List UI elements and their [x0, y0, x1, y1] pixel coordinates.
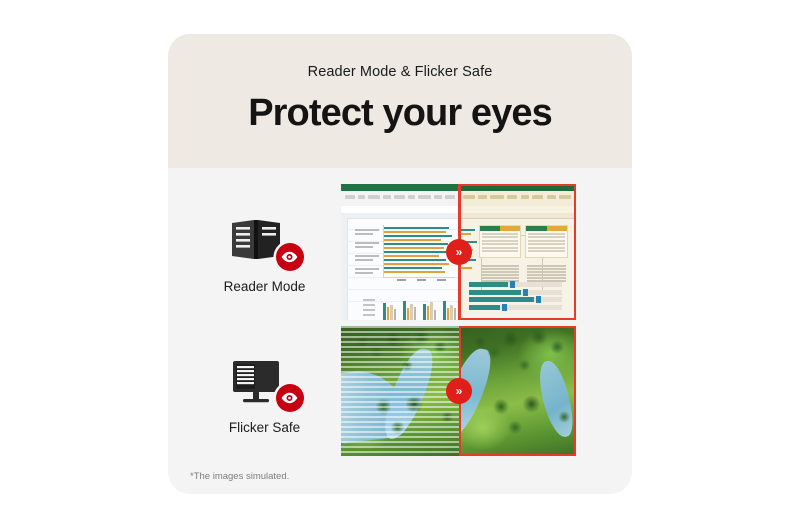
document-progress-bars — [469, 282, 563, 312]
card-body: Reader Mode — [168, 168, 632, 494]
demo-half-left-standard — [341, 184, 459, 320]
feature-row-reader-mode: Reader Mode — [168, 182, 632, 325]
page-title: Protect your eyes — [168, 80, 632, 135]
chevron-double-right-icon[interactable]: » — [446, 239, 472, 265]
feature-card: Reader Mode & Flicker Safe Protect your … — [168, 34, 632, 494]
horizontal-bar-chart — [355, 225, 455, 287]
flicker-stripes-overlay — [341, 326, 459, 456]
demo-half-right-flicker-safe — [459, 326, 577, 456]
demo-half-right-reader-mode — [459, 184, 577, 320]
demo-image-reader-mode: » — [341, 184, 576, 320]
eye-icon — [276, 243, 304, 271]
feature-label-reader-mode: Reader Mode — [188, 182, 341, 325]
column-chart — [363, 297, 457, 320]
eye-icon — [276, 384, 304, 412]
feature-caption-flicker-safe: Flicker Safe — [229, 420, 300, 435]
monitor-icon — [226, 355, 304, 411]
footnote-text: *The images simulated. — [190, 471, 289, 482]
demo-half-left-flickering — [341, 326, 459, 456]
demo-image-flicker-safe: » — [341, 326, 576, 456]
card-header: Reader Mode & Flicker Safe Protect your … — [168, 34, 632, 168]
feature-label-flicker-safe: Flicker Safe — [188, 325, 341, 465]
feature-row-flicker-safe: Flicker Safe — [168, 325, 632, 465]
chevron-double-right-icon[interactable]: » — [446, 378, 472, 404]
feature-caption-reader-mode: Reader Mode — [224, 279, 306, 294]
document-tables — [479, 225, 569, 258]
book-icon — [226, 214, 304, 270]
eyebrow-text: Reader Mode & Flicker Safe — [168, 34, 632, 80]
